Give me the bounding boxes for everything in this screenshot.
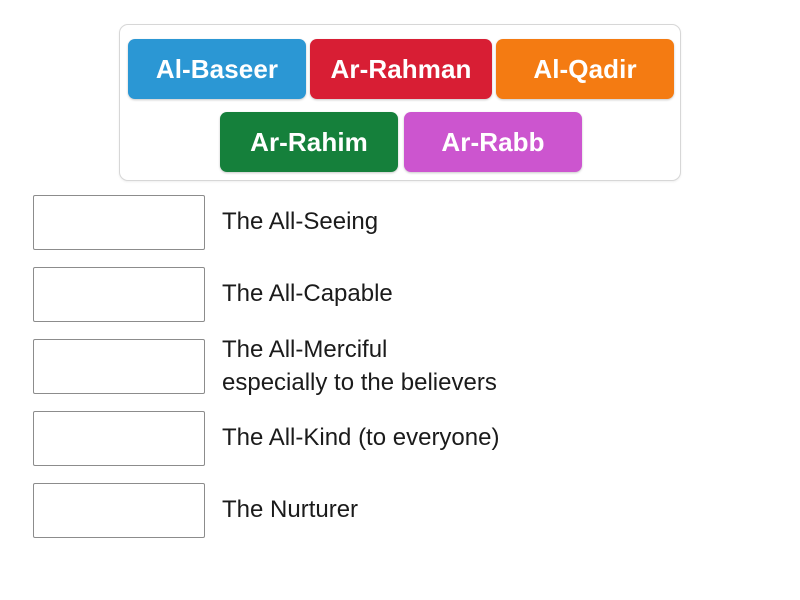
word-tile[interactable]: Ar-Rahman: [310, 39, 492, 99]
answer-row: The All-Capable: [0, 258, 800, 330]
answer-label: The Nurturer: [222, 493, 358, 526]
answer-row: The All-Kind (to everyone): [0, 402, 800, 474]
answer-list: The All-SeeingThe All-CapableThe All-Mer…: [0, 186, 800, 546]
drop-slot[interactable]: [33, 339, 205, 394]
answer-label: The All-Kind (to everyone): [222, 421, 499, 454]
answer-row: The All-Merciful especially to the belie…: [0, 330, 800, 402]
answer-row: The Nurturer: [0, 474, 800, 546]
word-tile[interactable]: Ar-Rabb: [404, 112, 582, 172]
drop-slot[interactable]: [33, 267, 205, 322]
drop-slot[interactable]: [33, 483, 205, 538]
answer-label: The All-Merciful especially to the belie…: [222, 333, 497, 399]
word-bank-container: Al-BaseerAr-RahmanAl-Qadir Ar-RahimAr-Ra…: [119, 24, 681, 181]
word-tile[interactable]: Al-Qadir: [496, 39, 674, 99]
drop-slot[interactable]: [33, 411, 205, 466]
word-bank-row-1: Al-BaseerAr-RahmanAl-Qadir: [130, 39, 672, 99]
word-bank-row-2: Ar-RahimAr-Rabb: [130, 112, 672, 172]
word-tile[interactable]: Ar-Rahim: [220, 112, 398, 172]
drop-slot[interactable]: [33, 195, 205, 250]
answer-label: The All-Seeing: [222, 205, 378, 238]
answer-label: The All-Capable: [222, 277, 393, 310]
word-tile[interactable]: Al-Baseer: [128, 39, 306, 99]
answer-row: The All-Seeing: [0, 186, 800, 258]
